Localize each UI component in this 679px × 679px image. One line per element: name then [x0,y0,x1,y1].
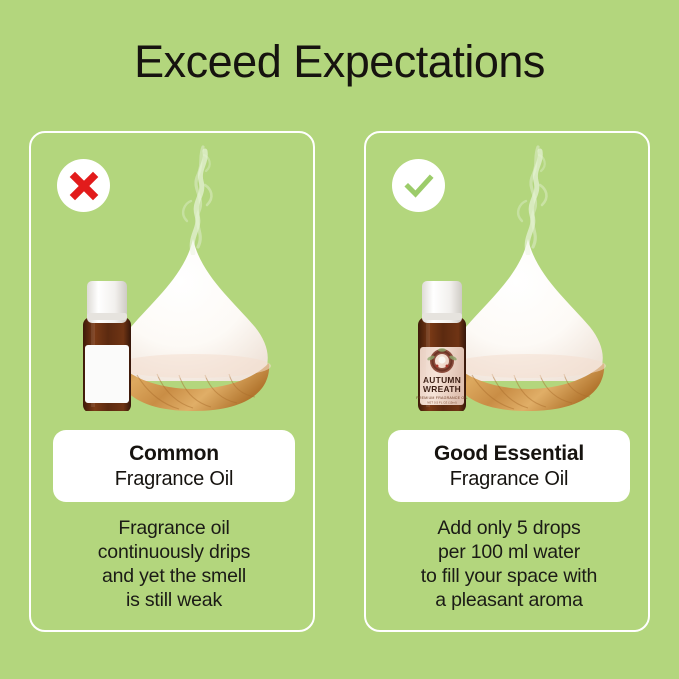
nameplate-title: Good Essential [434,441,584,466]
comparison-card-good-essential: AUTUMN WREATH PREMIUM FRAGRANCE OIL NET … [364,131,650,632]
bottle-label-subtitle: PREMIUM FRAGRANCE OIL [416,396,468,400]
fragrance-oil-bottle: AUTUMN WREATH PREMIUM FRAGRANCE OIL NET … [411,279,473,411]
description-line: and yet the smell [41,564,307,588]
nameplate-subtitle: Fragrance Oil [115,466,234,492]
check-icon [403,170,435,202]
description-line: to fill your space with [376,564,642,588]
vapor-smoke-icon [484,135,574,255]
description-common: Fragrance oil continuously drips and yet… [41,516,307,612]
cross-icon [69,171,99,201]
description-line: per 100 ml water [376,540,642,564]
status-badge-check [392,159,445,212]
status-badge-cross [57,159,110,212]
description-line: continuously drips [41,540,307,564]
nameplate-subtitle: Fragrance Oil [450,466,569,492]
description-line: a pleasant aroma [376,588,642,612]
description-line: Add only 5 drops [376,516,642,540]
vapor-smoke-icon [149,135,239,255]
description-line: Fragrance oil [41,516,307,540]
description-good-essential: Add only 5 drops per 100 ml water to fil… [376,516,642,612]
nameplate-common: Common Fragrance Oil [53,430,295,502]
nameplate-good-essential: Good Essential Fragrance Oil [388,430,630,502]
page-title: Exceed Expectations [0,36,679,88]
fragrance-oil-bottle [76,279,138,411]
nameplate-title: Common [129,441,219,466]
description-line: is still weak [41,588,307,612]
bottle-label-volume: NET 0.5 FL OZ (15ml) [427,401,457,405]
comparison-card-common: Common Fragrance Oil Fragrance oil conti… [29,131,315,632]
